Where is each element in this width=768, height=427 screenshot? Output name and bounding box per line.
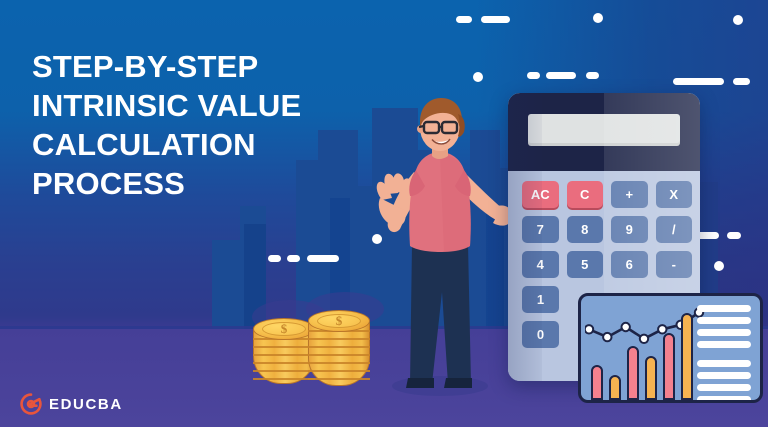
person-illustration (370, 96, 510, 396)
chart-text-line-7 (697, 396, 751, 403)
decor-dash-4 (586, 72, 599, 79)
chart-text-line-5 (697, 372, 751, 379)
page-title: STEP-BY-STEP INTRINSIC VALUE CALCULATION… (32, 47, 362, 203)
chart-text-line-6 (697, 384, 751, 391)
calculator-key-7[interactable]: 7 (522, 216, 559, 243)
decor-dash-0 (456, 16, 472, 23)
calculator-key-ac[interactable]: AC (522, 181, 559, 208)
poster-canvas: STEP-BY-STEP INTRINSIC VALUE CALCULATION… (0, 0, 768, 427)
chart-text-lines (697, 305, 751, 403)
calculator-key-+[interactable]: + (611, 181, 648, 208)
chart-text-line-3 (697, 341, 751, 348)
calculator-key-x[interactable]: X (656, 181, 693, 208)
calculator-key-1[interactable]: 1 (522, 286, 559, 313)
decor-dot-2 (473, 72, 483, 82)
title-line-1: STEP-BY-STEP (32, 47, 362, 86)
educba-e-icon (20, 393, 42, 415)
analytics-panel[interactable] (578, 293, 763, 403)
decor-dash-9 (307, 255, 339, 262)
calculator-key--[interactable]: - (656, 251, 693, 278)
chart-text-line-0 (697, 305, 751, 312)
decor-dot-4 (714, 261, 724, 271)
coin-stack-large: $ (308, 310, 370, 388)
chart-text-line-4 (697, 360, 751, 367)
calculator-key-8[interactable]: 8 (567, 216, 604, 243)
chart-bar-4 (645, 356, 657, 400)
decor-dash-7 (268, 255, 281, 262)
brand-name: EDUCBA (49, 396, 123, 413)
calculator-key-0[interactable]: 0 (522, 321, 559, 348)
title-line-4: PROCESS (32, 164, 362, 203)
calculator-key-9[interactable]: 9 (611, 216, 648, 243)
calculator-key-row: 456- (522, 251, 692, 278)
coin-dollar-large: $ (317, 313, 361, 329)
decor-dash-3 (546, 72, 576, 79)
title-line-3: CALCULATION (32, 125, 362, 164)
chart-bar-1 (591, 365, 603, 400)
title-line-2: INTRINSIC VALUE (32, 86, 362, 125)
chart-bar-5 (663, 333, 675, 400)
decor-dash-8 (287, 255, 300, 262)
coin-stack-small: $ (253, 318, 315, 386)
decor-dash-2 (527, 72, 540, 79)
calculator-key-row: ACC+X (522, 181, 692, 208)
chart-text-line-2 (697, 329, 751, 336)
calculator-key-/[interactable]: / (656, 216, 693, 243)
chart-bars (591, 296, 699, 400)
decor-dash-5 (673, 78, 724, 85)
decor-dash-1 (481, 16, 510, 23)
decor-dash-6 (733, 78, 750, 85)
brand-logo[interactable]: EDUCBA (20, 393, 123, 415)
decor-dot-1 (733, 15, 743, 25)
calculator-display[interactable] (528, 114, 680, 146)
calculator-key-5[interactable]: 5 (567, 251, 604, 278)
calculator-key-6[interactable]: 6 (611, 251, 648, 278)
coin-dollar-small: $ (262, 321, 306, 337)
calculator-key-4[interactable]: 4 (522, 251, 559, 278)
calculator-key-c[interactable]: C (567, 181, 604, 208)
calculator-key-row: 789/ (522, 216, 692, 243)
chart-bar-2 (609, 375, 621, 400)
chart-bar-3 (627, 346, 639, 400)
chart-text-line-1 (697, 317, 751, 324)
chart-bar-6 (681, 313, 693, 400)
decor-dash-11 (727, 232, 741, 239)
decor-dot-0 (593, 13, 603, 23)
